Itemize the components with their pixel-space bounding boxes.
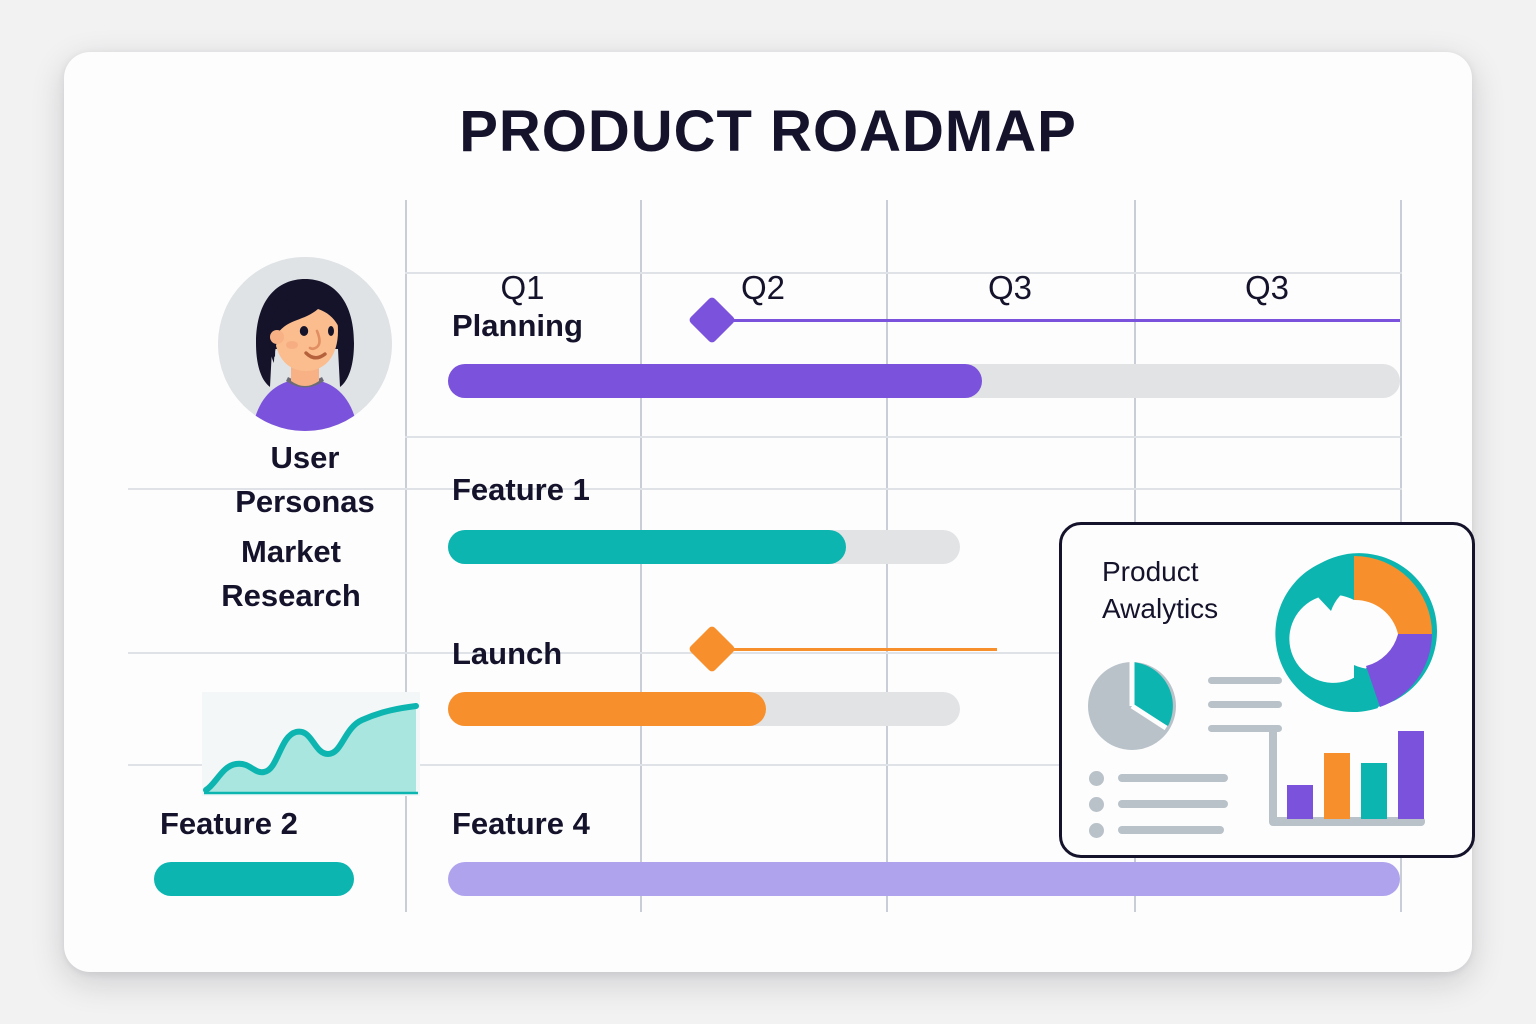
row-label-feature-1[interactable]: Feature 1 — [452, 472, 590, 508]
analytics-donut-chart — [1267, 549, 1442, 719]
milestone-connector-launch — [722, 648, 997, 651]
analytics-list-bullet-3 — [1089, 823, 1104, 838]
market-research-chart — [202, 692, 420, 796]
sidebar-item-market-research[interactable]: Market Research — [150, 530, 432, 618]
sidebar-item-market-research-line1: Market — [150, 530, 432, 574]
roadmap-screenshot: PRODUCT ROADMAP Q1 Q2 Q3 Q3 — [0, 0, 1536, 1024]
progress-fill-planning — [448, 364, 982, 398]
sidebar-item-market-research-line2: Research — [150, 574, 432, 618]
sidebar-feature-2-bar — [154, 862, 354, 896]
sidebar-item-feature-2[interactable]: Feature 2 — [160, 806, 298, 842]
avatar-illustration-svg — [218, 257, 392, 431]
roadmap-board: PRODUCT ROADMAP Q1 Q2 Q3 Q3 — [64, 52, 1472, 972]
column-header-q1: Q1 — [405, 264, 640, 312]
analytics-list-bullet-1 — [1089, 771, 1104, 786]
user-persona-avatar — [218, 257, 392, 431]
column-header-q3: Q3 — [886, 264, 1134, 312]
analytics-list-bullet-2 — [1089, 797, 1104, 812]
product-analytics-card[interactable]: Product Awalytics — [1059, 522, 1475, 858]
sidebar-item-user-personas-line1: User — [164, 436, 446, 480]
analytics-small-pie-chart — [1086, 660, 1178, 752]
progress-fill-launch — [448, 692, 766, 726]
row-label-planning[interactable]: Planning — [452, 308, 583, 344]
analytics-list-line-3 — [1118, 826, 1224, 834]
progress-fill-feature-1 — [448, 530, 846, 564]
analytics-legend-line-1 — [1208, 677, 1282, 684]
column-header-q4: Q3 — [1134, 264, 1400, 312]
progress-fill-feature-4 — [448, 862, 1400, 896]
milestone-connector-planning — [722, 319, 1400, 322]
row-label-launch[interactable]: Launch — [452, 636, 562, 672]
column-header-q2: Q2 — [640, 264, 886, 312]
area-chart-icon — [202, 692, 420, 796]
analytics-list-line-2 — [1118, 800, 1228, 808]
analytics-bar-chart — [1267, 723, 1427, 835]
page-title: PRODUCT ROADMAP — [64, 98, 1472, 165]
sidebar-item-user-personas[interactable]: User Personas — [164, 436, 446, 524]
sidebar-item-user-personas-line2: Personas — [164, 480, 446, 524]
analytics-list-line-1 — [1118, 774, 1228, 782]
grid-hline-row1 — [405, 436, 1402, 438]
analytics-legend-line-2 — [1208, 701, 1282, 708]
row-label-feature-4[interactable]: Feature 4 — [452, 806, 590, 842]
